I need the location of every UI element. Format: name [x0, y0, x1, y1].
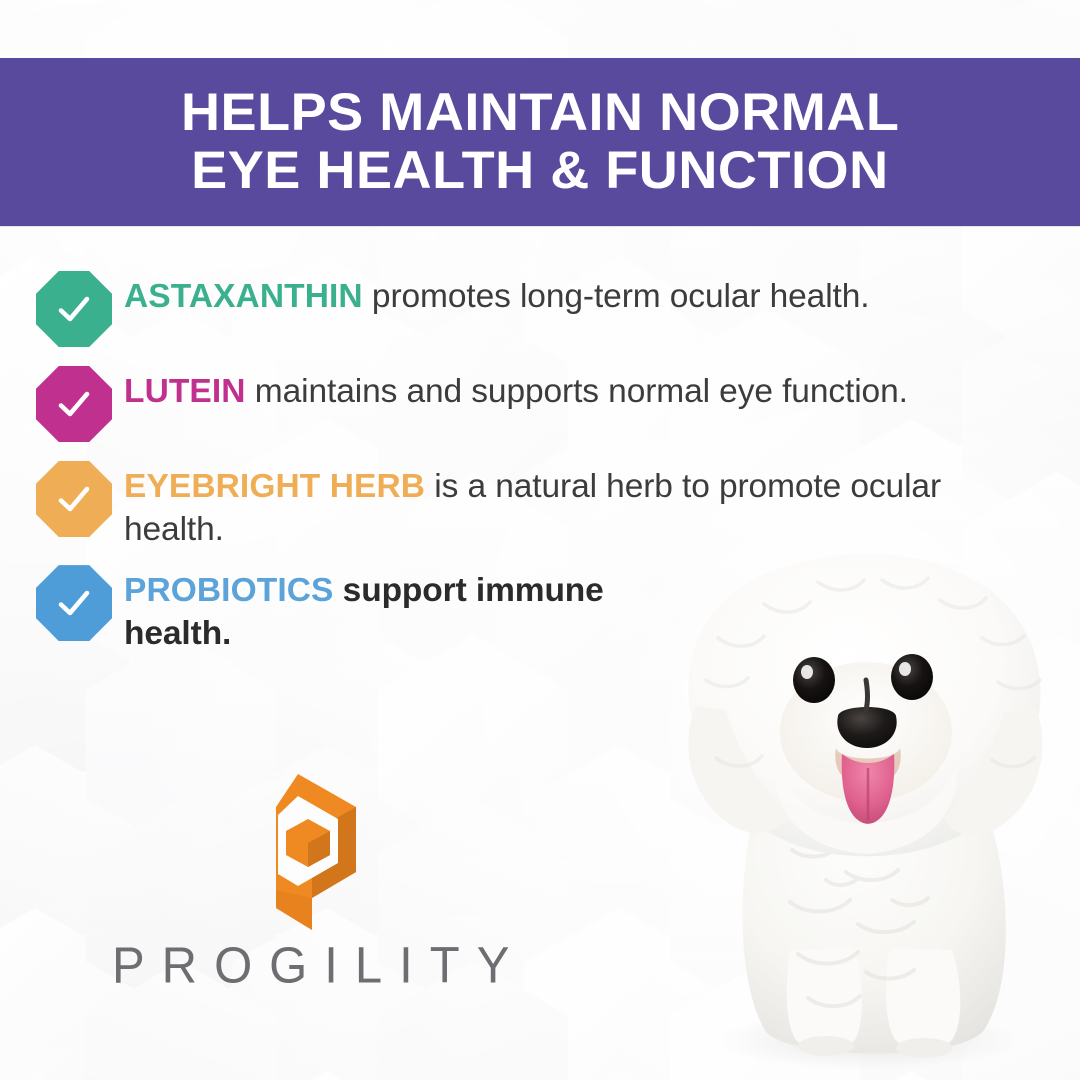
check-icon: [52, 382, 96, 426]
brand-logo: PROGILITY: [112, 772, 512, 994]
benefit-term-probiotics: PROBIOTICS: [124, 572, 333, 609]
benefit-tail-astaxanthin: promotes long-term ocular health.: [363, 278, 870, 315]
benefit-item-astaxanthin: ASTAXANTHIN promotes long-term ocular he…: [36, 268, 1046, 352]
check-icon: [52, 477, 96, 521]
hexagon-p-logo-icon: [232, 772, 364, 932]
benefit-term-eyebright-herb: EYEBRIGHT HERB: [124, 468, 425, 505]
dog-eye-highlight-left: [801, 665, 813, 679]
dog-eye-right: [891, 654, 933, 700]
check-badge-eyebright-herb: [36, 461, 112, 537]
brand-wordmark: PROGILITY: [112, 937, 512, 995]
check-icon: [52, 581, 96, 625]
benefit-text-probiotics: PROBIOTICS support immune health.: [124, 562, 679, 655]
benefit-tail-lutein: maintains and supports normal eye functi…: [246, 373, 908, 410]
dog-paw-left: [798, 1036, 854, 1056]
dog-front-leg-right: [886, 948, 960, 1050]
benefit-item-lutein: LUTEIN maintains and supports normal eye…: [36, 363, 1046, 447]
benefit-text-astaxanthin: ASTAXANTHIN promotes long-term ocular he…: [124, 268, 1046, 319]
dog-eye-left: [793, 657, 835, 703]
dog-eye-highlight-right: [899, 662, 911, 676]
dog-nose-bridge: [866, 680, 868, 710]
infographic-canvas: HELPS MAINTAIN NORMAL EYE HEALTH & FUNCT…: [0, 0, 1080, 1080]
benefit-term-astaxanthin: ASTAXANTHIN: [124, 278, 363, 315]
headline-banner: HELPS MAINTAIN NORMAL EYE HEALTH & FUNCT…: [0, 58, 1080, 226]
dog-paw-right: [896, 1038, 952, 1058]
check-icon: [52, 287, 96, 331]
headline-line-2: EYE HEALTH & FUNCTION: [191, 142, 888, 200]
check-badge-probiotics: [36, 565, 112, 641]
check-badge-lutein: [36, 366, 112, 442]
benefit-term-lutein: LUTEIN: [124, 373, 246, 410]
headline-line-1: HELPS MAINTAIN NORMAL: [181, 84, 899, 142]
check-badge-astaxanthin: [36, 271, 112, 347]
dog-photo: [640, 520, 1080, 1080]
benefit-text-lutein: LUTEIN maintains and supports normal eye…: [124, 363, 1046, 414]
